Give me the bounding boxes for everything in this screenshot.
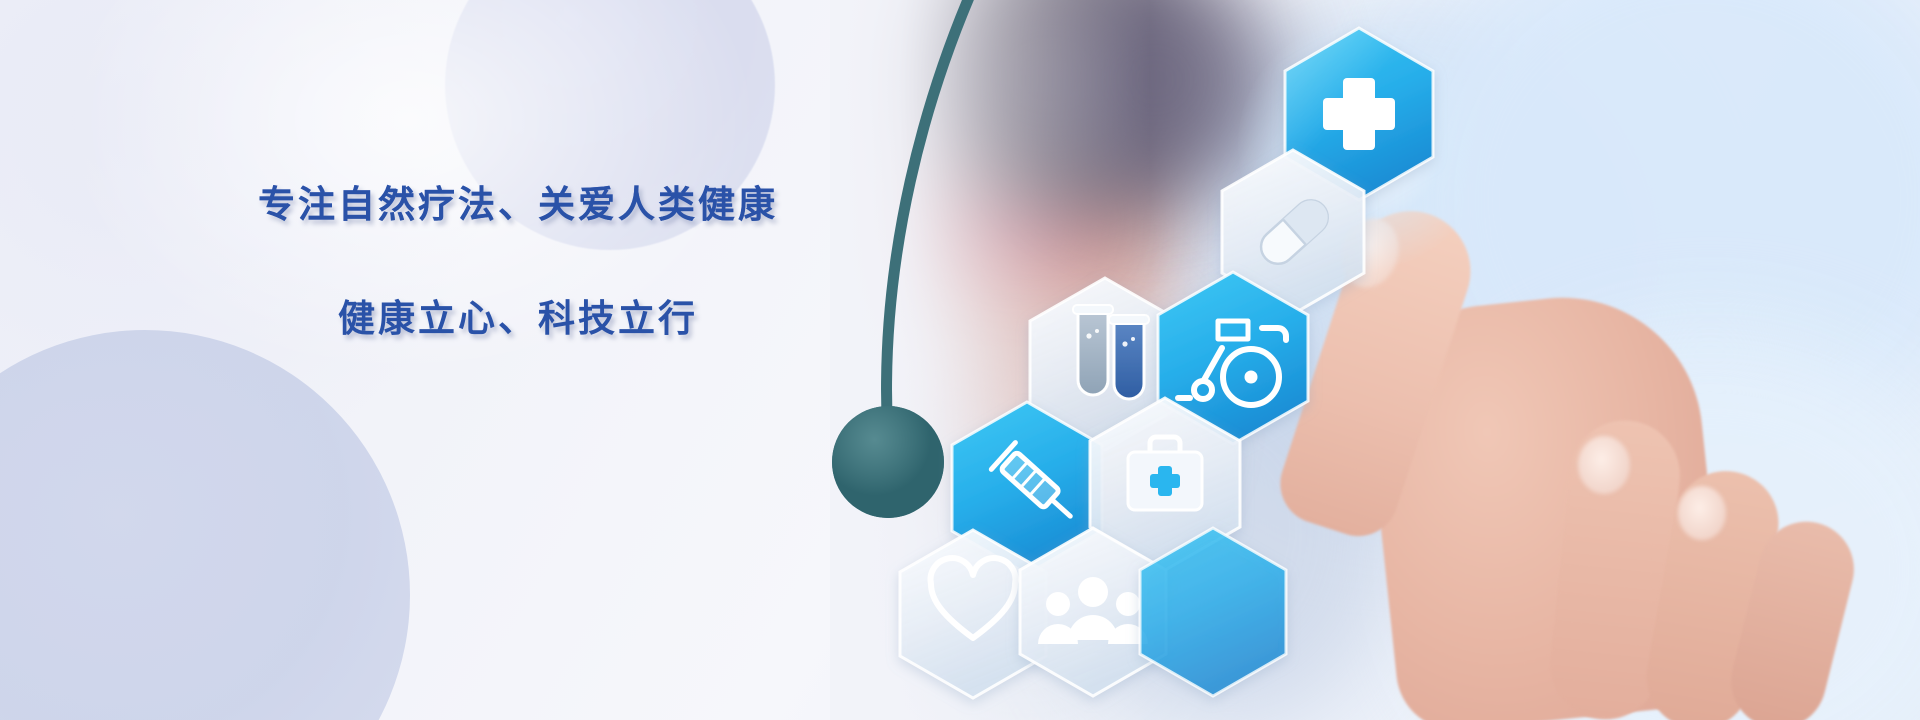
headline-line-2: 健康立心、科技立行 xyxy=(338,296,898,342)
hero-banner: 专注自然疗法、关爱人类健康 健康立心、科技立行 xyxy=(0,0,1920,720)
decorative-circle-bottom-left xyxy=(0,330,410,720)
hand-nail-ring xyxy=(1678,486,1726,540)
hand-nail-middle xyxy=(1578,436,1630,494)
headline-line-1: 专注自然疗法、关爱人类健康 xyxy=(258,182,898,228)
hero-headline: 专注自然疗法、关爱人类健康 健康立心、科技立行 xyxy=(258,182,898,342)
